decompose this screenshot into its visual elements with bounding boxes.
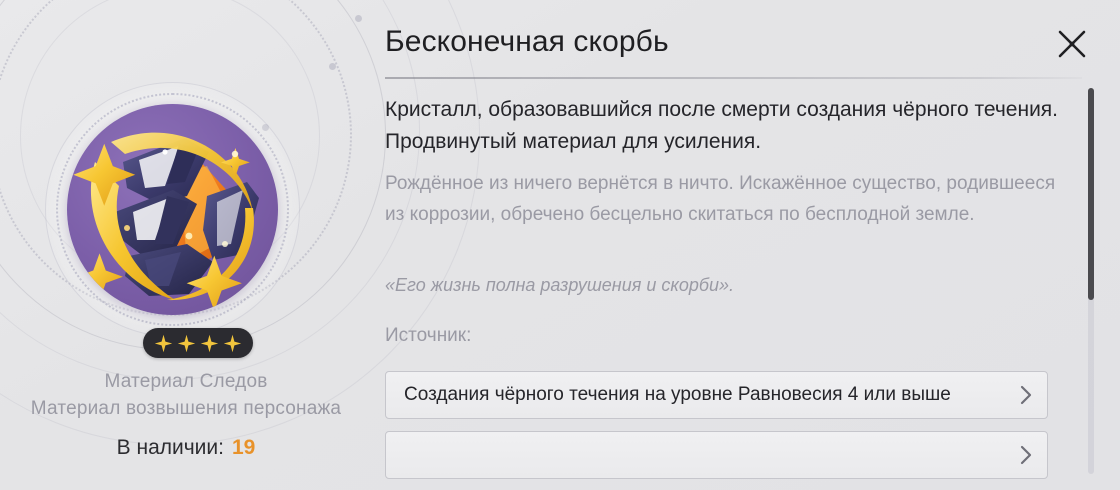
- rarity-star-icon: [177, 334, 196, 353]
- rarity-star-badge: [143, 328, 253, 358]
- item-description: Кристалл, образовавшийся после смерти со…: [385, 94, 1065, 158]
- rarity-star-icon: [154, 334, 173, 353]
- page-title: Бесконечная скорбь: [385, 25, 669, 59]
- rarity-star-icon: [223, 334, 242, 353]
- item-icon-artwork: [67, 104, 278, 315]
- close-button[interactable]: [1052, 24, 1092, 64]
- source-list-item[interactable]: [385, 431, 1048, 479]
- rarity-star-icon: [200, 334, 219, 353]
- scrollbar-thumb[interactable]: [1088, 88, 1094, 300]
- owned-label: В наличии:: [117, 436, 224, 459]
- source-list-item[interactable]: Создания чёрного течения на уровне Равно…: [385, 371, 1048, 419]
- scrollbar-track[interactable]: [1088, 88, 1094, 474]
- item-quote: «Его жизнь полна разрушения и скорби».: [385, 275, 1061, 296]
- item-type-line-2: Материал возвышения персонажа: [0, 395, 372, 422]
- item-lore-text: Рождённое из ничего вернётся в ничто. Ис…: [385, 168, 1061, 230]
- source-section-label: Источник:: [385, 325, 471, 347]
- item-type-labels: Материал Следов Материал возвышения перс…: [0, 368, 372, 422]
- chevron-right-icon: [1005, 384, 1047, 406]
- source-item-label: Создания чёрного течения на уровне Равно…: [386, 384, 1005, 406]
- owned-quantity-row: В наличии:19: [0, 436, 372, 460]
- owned-count: 19: [232, 436, 255, 459]
- close-x-icon: [1052, 24, 1092, 64]
- item-info-panel: Бесконечная скорбь Кристалл, образовавши…: [372, 0, 1120, 490]
- title-divider: [385, 77, 1082, 79]
- chevron-right-icon: [1005, 444, 1047, 466]
- item-type-line-1: Материал Следов: [0, 368, 372, 395]
- item-icon: [45, 82, 300, 337]
- item-detail-panel: Материал Следов Материал возвышения перс…: [0, 0, 1120, 490]
- item-preview-panel: Материал Следов Материал возвышения перс…: [0, 0, 372, 490]
